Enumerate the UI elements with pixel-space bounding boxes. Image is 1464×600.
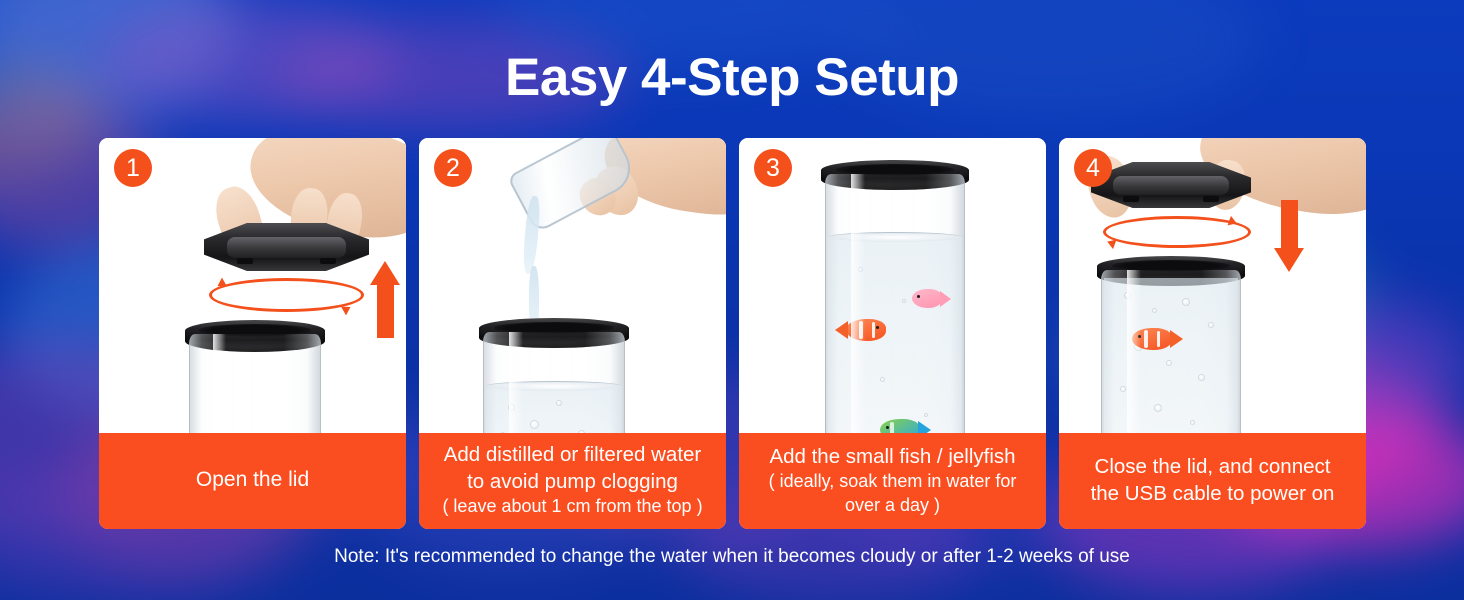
caption-line: Close the lid, and connect bbox=[1095, 453, 1331, 480]
step-4-caption: Close the lid, and connect the USB cable… bbox=[1059, 433, 1366, 529]
rotate-arrow-head bbox=[341, 303, 353, 316]
fish-clownfish bbox=[846, 319, 886, 341]
step-4-illustration: 4 bbox=[1059, 138, 1366, 433]
step-card-4[interactable]: 4 bbox=[1059, 138, 1366, 529]
page-title: Easy 4-Step Setup bbox=[0, 50, 1464, 106]
step-badge-1: 1 bbox=[114, 149, 152, 187]
rotate-arrow-head bbox=[1106, 237, 1117, 249]
step-card-1[interactable]: 1 bbox=[99, 138, 406, 529]
water-fill bbox=[1104, 278, 1238, 433]
water-fill bbox=[828, 237, 962, 433]
step-1-illustration: 1 bbox=[99, 138, 406, 433]
step-card-2[interactable]: 2 bbox=[419, 138, 726, 529]
caption-line: Add distilled or filtered water bbox=[444, 441, 702, 468]
down-arrow-shaft bbox=[1281, 200, 1298, 250]
caption-line: over a day ) bbox=[845, 494, 940, 518]
fish-pink bbox=[912, 289, 942, 308]
step-2-illustration: 2 bbox=[419, 138, 726, 433]
tank-lid bbox=[1091, 162, 1251, 208]
fish-clownfish bbox=[1132, 328, 1172, 350]
down-arrow-head bbox=[1274, 248, 1304, 272]
up-arrow-shaft bbox=[377, 283, 394, 338]
tank-body bbox=[483, 332, 625, 433]
tank-body bbox=[825, 174, 965, 433]
step-3-illustration: 3 bbox=[739, 138, 1046, 433]
step-badge-3: 3 bbox=[754, 149, 792, 187]
fish-blue-green bbox=[880, 419, 920, 433]
caption-line: ( leave about 1 cm from the top ) bbox=[442, 495, 702, 519]
caption-line: Open the lid bbox=[196, 466, 309, 494]
step-badge-4: 4 bbox=[1074, 149, 1112, 187]
tank-body bbox=[1101, 270, 1241, 433]
step-2-caption: Add distilled or filtered water to avoid… bbox=[419, 433, 726, 529]
footer-note: Note: It's recommended to change the wat… bbox=[0, 546, 1464, 568]
caption-line: the USB cable to power on bbox=[1091, 480, 1335, 507]
steps-row: 1 bbox=[99, 138, 1366, 529]
tank-body bbox=[189, 334, 321, 433]
step-card-3[interactable]: 3 bbox=[739, 138, 1046, 529]
step-3-caption: Add the small fish / jellyfish ( ideally… bbox=[739, 433, 1046, 529]
caption-line: Add the small fish / jellyfish bbox=[769, 443, 1015, 470]
caption-line: to avoid pump clogging bbox=[467, 468, 678, 495]
up-arrow-head bbox=[370, 261, 400, 285]
water-fill bbox=[486, 386, 622, 433]
step-1-caption: Open the lid bbox=[99, 433, 406, 529]
tank-lid bbox=[204, 223, 369, 271]
step-badge-2: 2 bbox=[434, 149, 472, 187]
caption-line: ( ideally, soak them in water for bbox=[769, 470, 1017, 494]
infographic-stage: Easy 4-Step Setup 1 bbox=[0, 0, 1464, 600]
